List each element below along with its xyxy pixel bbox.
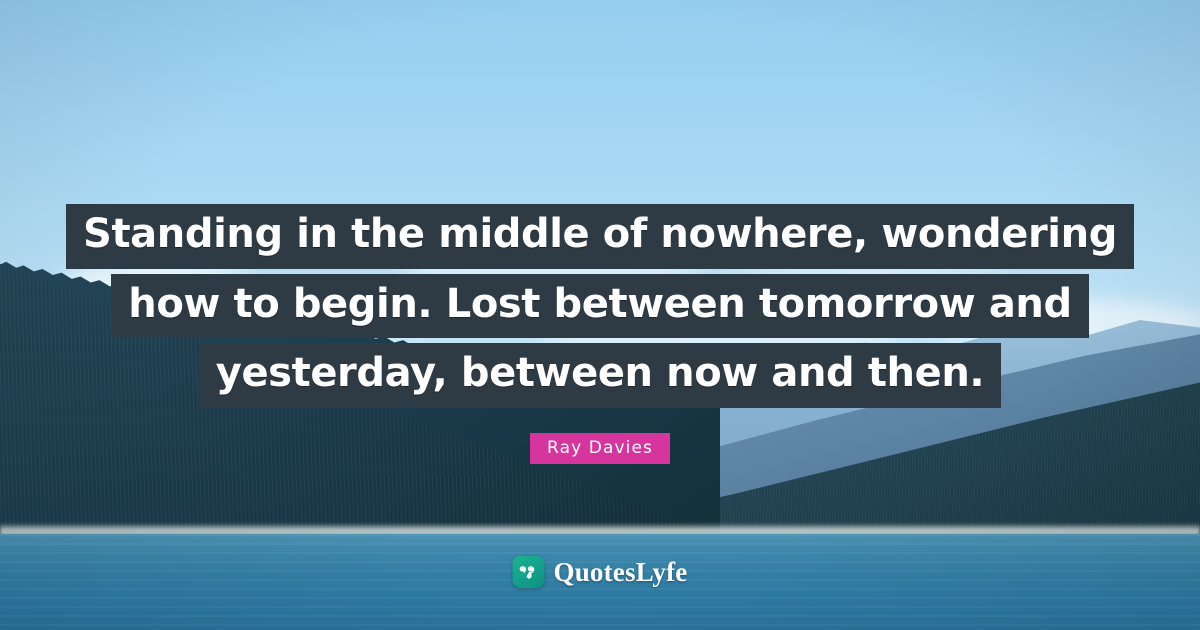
author-badge: Ray Davies [530,433,670,464]
quote-text-block: Standing in the middle of nowhere, wonde… [0,204,1200,408]
brand-logo[interactable]: QuotesLyfe [513,556,688,588]
brand-name: QuotesLyfe [554,557,688,588]
quote-bubble-icon [513,556,545,588]
quote-card: Standing in the middle of nowhere, wonde… [0,0,1200,630]
quote-line-1: Standing in the middle of nowhere, wonde… [66,204,1134,269]
quote-line-2: how to begin. Lost between tomorrow and [111,274,1088,339]
quote-line-3: yesterday, between now and then. [199,343,1001,408]
